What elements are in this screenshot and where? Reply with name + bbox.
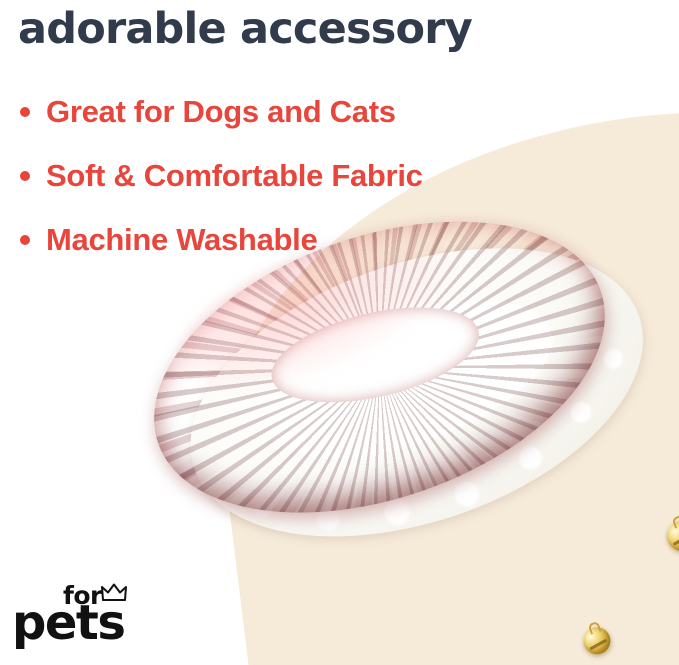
feature-label: Great for Dogs and Cats [46,95,396,129]
bullet-dot-icon [20,107,30,117]
pet-collar [100,128,679,665]
bullet-dot-icon [20,235,30,245]
brand-logo: for pets [8,579,138,655]
feature-label: Soft & Comfortable Fabric [46,159,423,193]
bullet-dot-icon [20,171,30,181]
crown-icon [101,583,127,603]
product-feature-image: adorable accessory Great for Dogs and Ca… [0,0,679,665]
list-item: Great for Dogs and Cats [14,80,574,144]
product-image [150,205,679,635]
jingle-bell-icon [663,517,679,555]
logo-text-pets: pets [12,599,124,647]
page-title: adorable accessory [18,2,472,56]
